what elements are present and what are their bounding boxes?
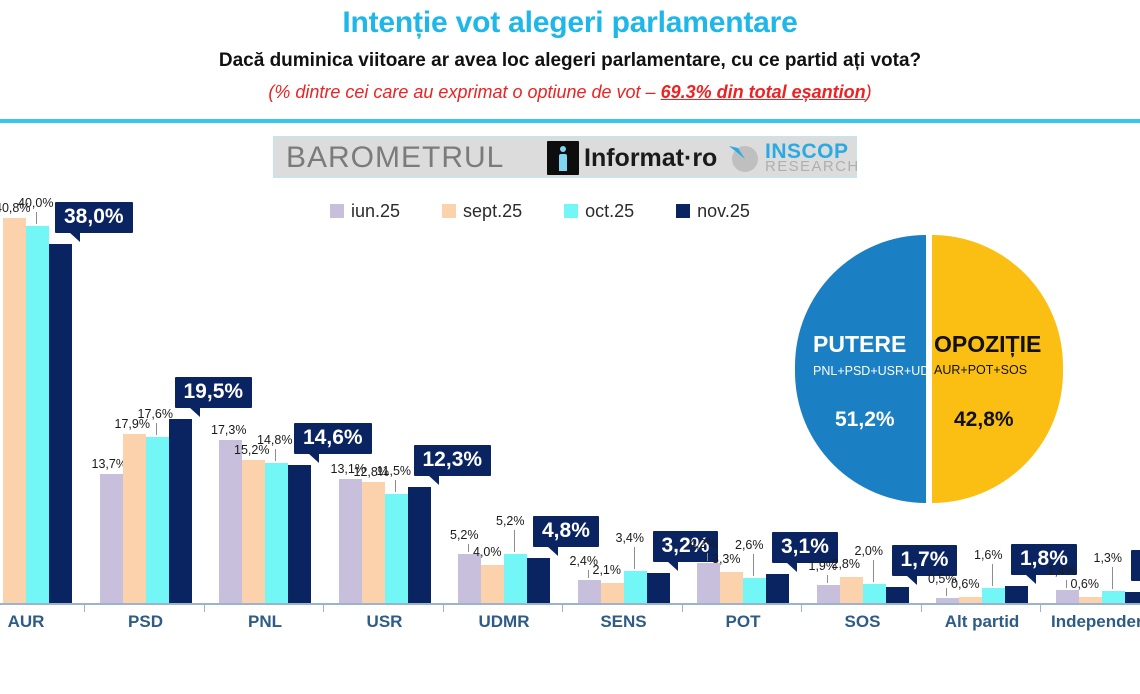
leader-line [395,480,396,492]
bar-group [936,294,1028,694]
note-open: (% dintre cei care au exprimat o optiune… [268,82,660,102]
bar-aur-sept.25[interactable] [3,218,26,603]
legend-item-iun25[interactable]: iun.25 [330,201,400,222]
inscop-tagline: RESEARCH [765,161,860,174]
leader-line [873,560,874,582]
informat-body-icon [559,154,567,171]
legend-swatch-icon [676,204,690,218]
bar-sens-nov.25[interactable] [647,573,670,603]
highlight-callout-pnl: 14,6% [294,423,372,454]
brand-barometrul-text: BAROMETRUL [286,141,504,175]
page-subtitle: Dacă duminica viitoare ar avea loc alege… [0,50,1140,72]
callout-tail-icon [547,546,558,556]
bar-udmr-oct.25[interactable] [504,554,527,603]
value-label-sos-oct.25: 2,0% [855,544,884,558]
bar-group [697,294,789,694]
value-label-sens-sept.25: 2,1% [593,563,622,577]
callout-tail-icon [1025,574,1036,584]
bar-psd-iun.25[interactable] [100,474,123,603]
x-axis-label-usr: USR [319,612,451,632]
value-label-independent-oct.25: 1,3% [1094,551,1123,565]
bar-sens-sept.25[interactable] [601,583,624,603]
x-axis-label-independent: Independent [1036,612,1140,632]
value-label-udmr-iun.25: 5,2% [450,528,479,542]
highlight-callout-psd: 19,5% [175,377,253,408]
bar-usr-nov.25[interactable] [408,487,431,603]
x-axis-tick [562,603,563,612]
legend-swatch-icon [330,204,344,218]
x-axis-label-udmr: UDMR [438,612,570,632]
value-label-aur-oct.25: 40,0% [18,196,53,210]
x-axis-line [0,603,1140,605]
bar-sos-oct.25[interactable] [863,584,886,603]
bar-udmr-iun.25[interactable] [458,554,481,603]
leader-line [468,544,469,552]
callout-tail-icon [69,232,80,242]
bar-pot-sept.25[interactable] [720,572,743,603]
bar-psd-nov.25[interactable] [169,419,192,603]
x-axis-tick [84,603,85,612]
highlight-callout-usr: 12,3% [414,445,492,476]
callout-tail-icon [189,407,200,417]
bar-sens-oct.25[interactable] [624,571,647,603]
bar-pot-iun.25[interactable] [697,563,720,603]
value-label-pot-iun.25: 4,2% [689,537,718,551]
highlight-callout-independent: 1,2% [1131,550,1140,581]
legend-item-sept25[interactable]: sept.25 [442,201,522,222]
legend-label: sept.25 [463,201,522,222]
x-axis-label-aur: AUR [0,612,92,632]
x-axis-tick [682,603,683,612]
x-axis-label-pot: POT [677,612,809,632]
callout-tail-icon [786,562,797,572]
note-close: ) [866,82,872,102]
bar-udmr-sept.25[interactable] [481,565,504,603]
x-axis-label-psd: PSD [80,612,212,632]
leader-line [275,449,276,461]
x-axis-tick [323,603,324,612]
bar-usr-sept.25[interactable] [362,482,385,603]
legend-item-nov25[interactable]: nov.25 [676,201,750,222]
inscop-wordmark: INSCOP RESEARCH [765,143,860,174]
bar-psd-sept.25[interactable] [123,434,146,603]
x-axis-tick [801,603,802,612]
bar-sos-iun.25[interactable] [817,585,840,603]
x-axis-label-alt-partid: Alt partid [916,612,1048,632]
leader-line [514,530,515,552]
callout-tail-icon [428,475,439,485]
page-title: Intenție vot alegeri parlamentare [0,6,1140,40]
bar-group [817,294,909,694]
note-underline: 69.3% din total eșantion [661,82,866,102]
x-axis-label-sens: SENS [558,612,690,632]
callout-tail-icon [308,453,319,463]
bar-group [578,294,670,694]
bar-alt-partid-nov.25[interactable] [1005,586,1028,603]
inscop-logo: INSCOP RESEARCH [726,140,860,176]
bar-usr-iun.25[interactable] [339,479,362,603]
informat-wordmark: Informat·ro [584,144,717,173]
leader-line [753,554,754,576]
inscop-mark-icon [726,140,762,176]
value-label-pot-sept.25: 3,3% [712,552,741,566]
legend-swatch-icon [442,204,456,218]
bar-usr-oct.25[interactable] [385,494,408,603]
legend-label: oct.25 [585,201,634,222]
page-note: (% dintre cei care au exprimat o optiune… [0,82,1140,103]
chart-legend: iun.25 sept.25 oct.25 nov.25 [330,199,830,223]
bar-pnl-iun.25[interactable] [219,440,242,603]
bar-aur-oct.25[interactable] [26,226,49,603]
leader-line [1066,580,1067,588]
legend-label: nov.25 [697,201,750,222]
legend-item-oct25[interactable]: oct.25 [564,201,634,222]
bar-group [458,294,550,694]
value-label-alt-partid-oct.25: 1,6% [974,548,1003,562]
value-label-pnl-iun.25: 17,3% [211,423,246,437]
leader-line [588,570,589,578]
bar-alt-partid-iun.25[interactable] [936,598,959,603]
value-label-pnl-oct.25: 14,8% [257,433,292,447]
x-axis-tick [204,603,205,612]
value-label-independent-sept.25: 0,6% [1071,577,1100,591]
leader-line [707,553,708,561]
bar-psd-oct.25[interactable] [146,437,169,603]
callout-tail-icon [906,575,917,585]
bar-pnl-nov.25[interactable] [288,465,311,603]
bar-sens-iun.25[interactable] [578,580,601,603]
bar-pot-oct.25[interactable] [743,578,766,603]
x-axis-tick [1040,603,1041,612]
leader-line [946,588,947,596]
x-axis-tick [921,603,922,612]
bar-pnl-sept.25[interactable] [242,460,265,603]
value-label-alt-partid-sept.25: 0,6% [951,577,980,591]
leader-line [156,423,157,435]
brand-bar: BAROMETRUL Informat·ro INSCOP RESEARCH [273,136,857,178]
value-label-pot-oct.25: 2,6% [735,538,764,552]
x-axis-label-sos: SOS [797,612,929,632]
bar-pot-nov.25[interactable] [766,574,789,603]
leader-line [634,547,635,569]
bar-group [1056,294,1140,694]
bar-independent-nov.25[interactable] [1125,592,1140,603]
bar-independent-sept.25[interactable] [1079,597,1102,603]
value-label-usr-oct.25: 11,5% [377,464,412,478]
bar-pnl-oct.25[interactable] [265,463,288,603]
highlight-callout-udmr: 4,8% [533,516,599,547]
legend-label: iun.25 [351,201,400,222]
bar-udmr-nov.25[interactable] [527,558,550,603]
value-label-udmr-sept.25: 4,0% [473,545,502,559]
legend-swatch-icon [564,204,578,218]
bar-sos-sept.25[interactable] [840,577,863,603]
callout-tail-icon [667,561,678,571]
bar-alt-partid-sept.25[interactable] [959,597,982,603]
leader-line [992,564,993,586]
value-label-udmr-oct.25: 5,2% [496,514,525,528]
value-label-sens-oct.25: 3,4% [616,531,645,545]
bar-aur-nov.25[interactable] [49,244,72,603]
informat-mark-icon [547,141,579,175]
informat-logo: Informat·ro [547,141,717,175]
bar-alt-partid-oct.25[interactable] [982,588,1005,603]
leader-line [36,212,37,224]
value-label-sos-sept.25: 2,8% [832,557,861,571]
bar-independent-iun.25[interactable] [1056,590,1079,603]
highlight-callout-aur: 38,0% [55,202,133,233]
x-axis-label-pnl: PNL [199,612,331,632]
header-divider [0,119,1140,123]
bar-sos-nov.25[interactable] [886,587,909,603]
informat-head-icon [560,146,566,152]
leader-line [1112,567,1113,589]
value-label-independent-iun.25: 1,4% [1048,564,1077,578]
leader-line [827,575,828,583]
page-header: Intenție vot alegeri parlamentare Dacă d… [0,0,1140,122]
bar-independent-oct.25[interactable] [1102,591,1125,603]
x-axis-tick [443,603,444,612]
